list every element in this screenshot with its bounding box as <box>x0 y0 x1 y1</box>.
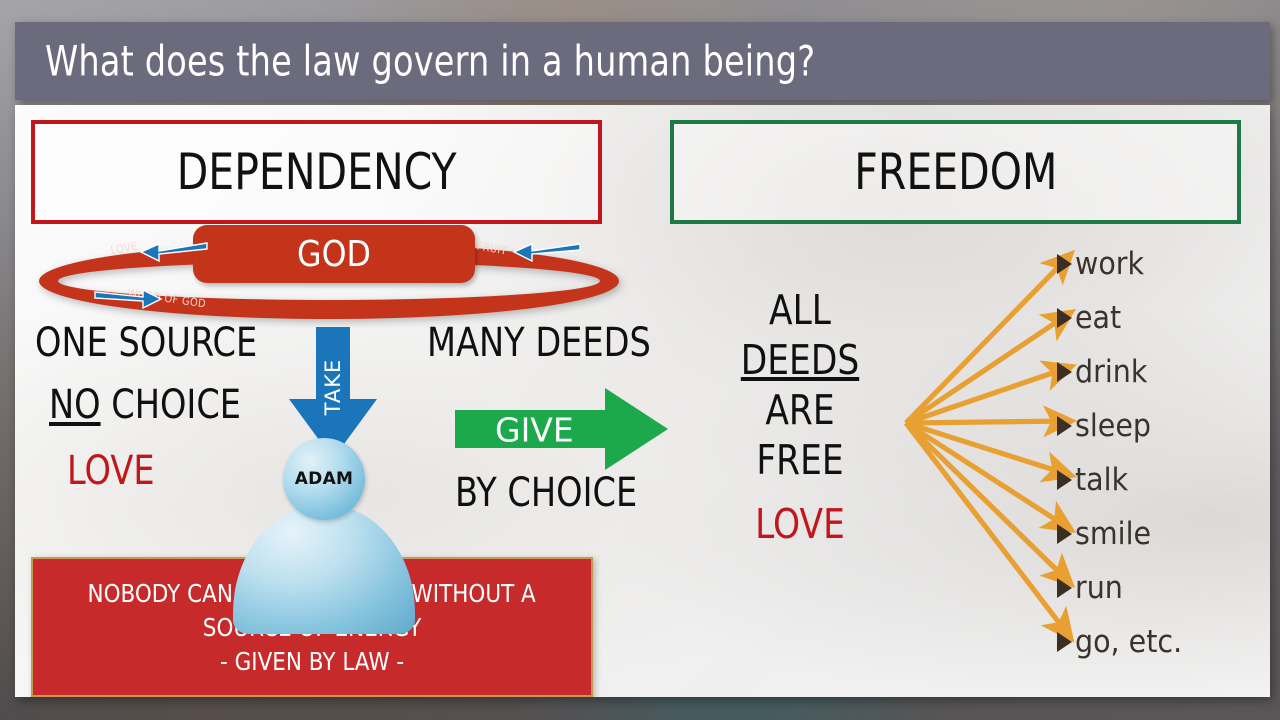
blue-arrow-love-icon <box>137 237 209 263</box>
text-many-deeds: MANY DEEDS <box>427 320 651 366</box>
banner-line-3: - GIVEN BY LAW - <box>220 647 404 676</box>
text-left-love: LOVE <box>67 448 155 494</box>
list-item: smile <box>1057 507 1257 561</box>
god-box: GOD <box>193 225 475 283</box>
dependency-header-label: DEPENDENCY <box>177 143 457 201</box>
triangle-bullet-icon <box>1057 308 1072 328</box>
activity-label-sleep: sleep <box>1075 408 1151 444</box>
list-item: drink <box>1057 345 1257 399</box>
list-item: eat <box>1057 291 1257 345</box>
fan-arrow-eat <box>906 313 1070 423</box>
slide-content-panel: DEPENDENCY FREEDOM GOD LOVE WORD OF GOD … <box>15 105 1270 697</box>
adam-label: ADAM <box>295 469 354 489</box>
activity-label-work: work <box>1075 246 1144 282</box>
text-no-choice: NO CHOICE <box>49 382 241 428</box>
list-item: run <box>1057 561 1257 615</box>
give-arrow: GIVE <box>455 388 670 471</box>
page-title: What does the law govern in a human bein… <box>45 37 815 86</box>
adam-head: ADAM <box>283 438 365 520</box>
activity-label-run: run <box>1075 570 1123 606</box>
text-choice-rest: CHOICE <box>101 382 241 428</box>
text-by-choice: BY CHOICE <box>455 470 637 516</box>
dependency-header-box: DEPENDENCY <box>31 120 602 224</box>
triangle-bullet-icon <box>1057 632 1072 652</box>
triangle-bullet-icon <box>1057 416 1072 436</box>
triangle-bullet-icon <box>1057 524 1072 544</box>
text-one-source: ONE SOURCE <box>35 320 257 366</box>
list-item: work <box>1057 237 1257 291</box>
fan-arrow-smile <box>906 423 1070 529</box>
adam-person-figure: ADAM <box>221 430 421 655</box>
fan-arrow-go <box>906 423 1070 637</box>
give-arrow-label: GIVE <box>495 410 574 449</box>
take-arrow-label: TAKE <box>321 359 345 416</box>
activity-label-drink: drink <box>1075 354 1147 390</box>
slide-title-bar: What does the law govern in a human bein… <box>15 22 1270 100</box>
list-item: go, etc. <box>1057 615 1257 669</box>
blue-arrow-word-of-god-icon <box>93 287 165 313</box>
god-loop-diagram: GOD LOVE WORD OF GOD FRUIT <box>25 225 625 330</box>
slide-canvas: What does the law govern in a human bein… <box>0 0 1280 720</box>
activity-label-smile: smile <box>1075 516 1151 552</box>
triangle-bullet-icon <box>1057 362 1072 382</box>
activity-label-talk: talk <box>1075 462 1128 498</box>
activity-list: work eat drink sleep talk smile <box>1057 237 1257 669</box>
activity-label-go: go, etc. <box>1075 624 1182 660</box>
text-no-underlined: NO <box>49 382 101 428</box>
list-item: sleep <box>1057 399 1257 453</box>
god-label: GOD <box>297 234 371 275</box>
fan-arrow-work <box>906 255 1070 423</box>
fan-arrow-sleep <box>906 421 1070 423</box>
triangle-bullet-icon <box>1057 254 1072 274</box>
blue-arrow-fruit-icon <box>510 237 582 263</box>
adam-body <box>233 504 415 634</box>
activity-label-eat: eat <box>1075 300 1121 336</box>
list-item: talk <box>1057 453 1257 507</box>
triangle-bullet-icon <box>1057 470 1072 490</box>
triangle-bullet-icon <box>1057 578 1072 598</box>
